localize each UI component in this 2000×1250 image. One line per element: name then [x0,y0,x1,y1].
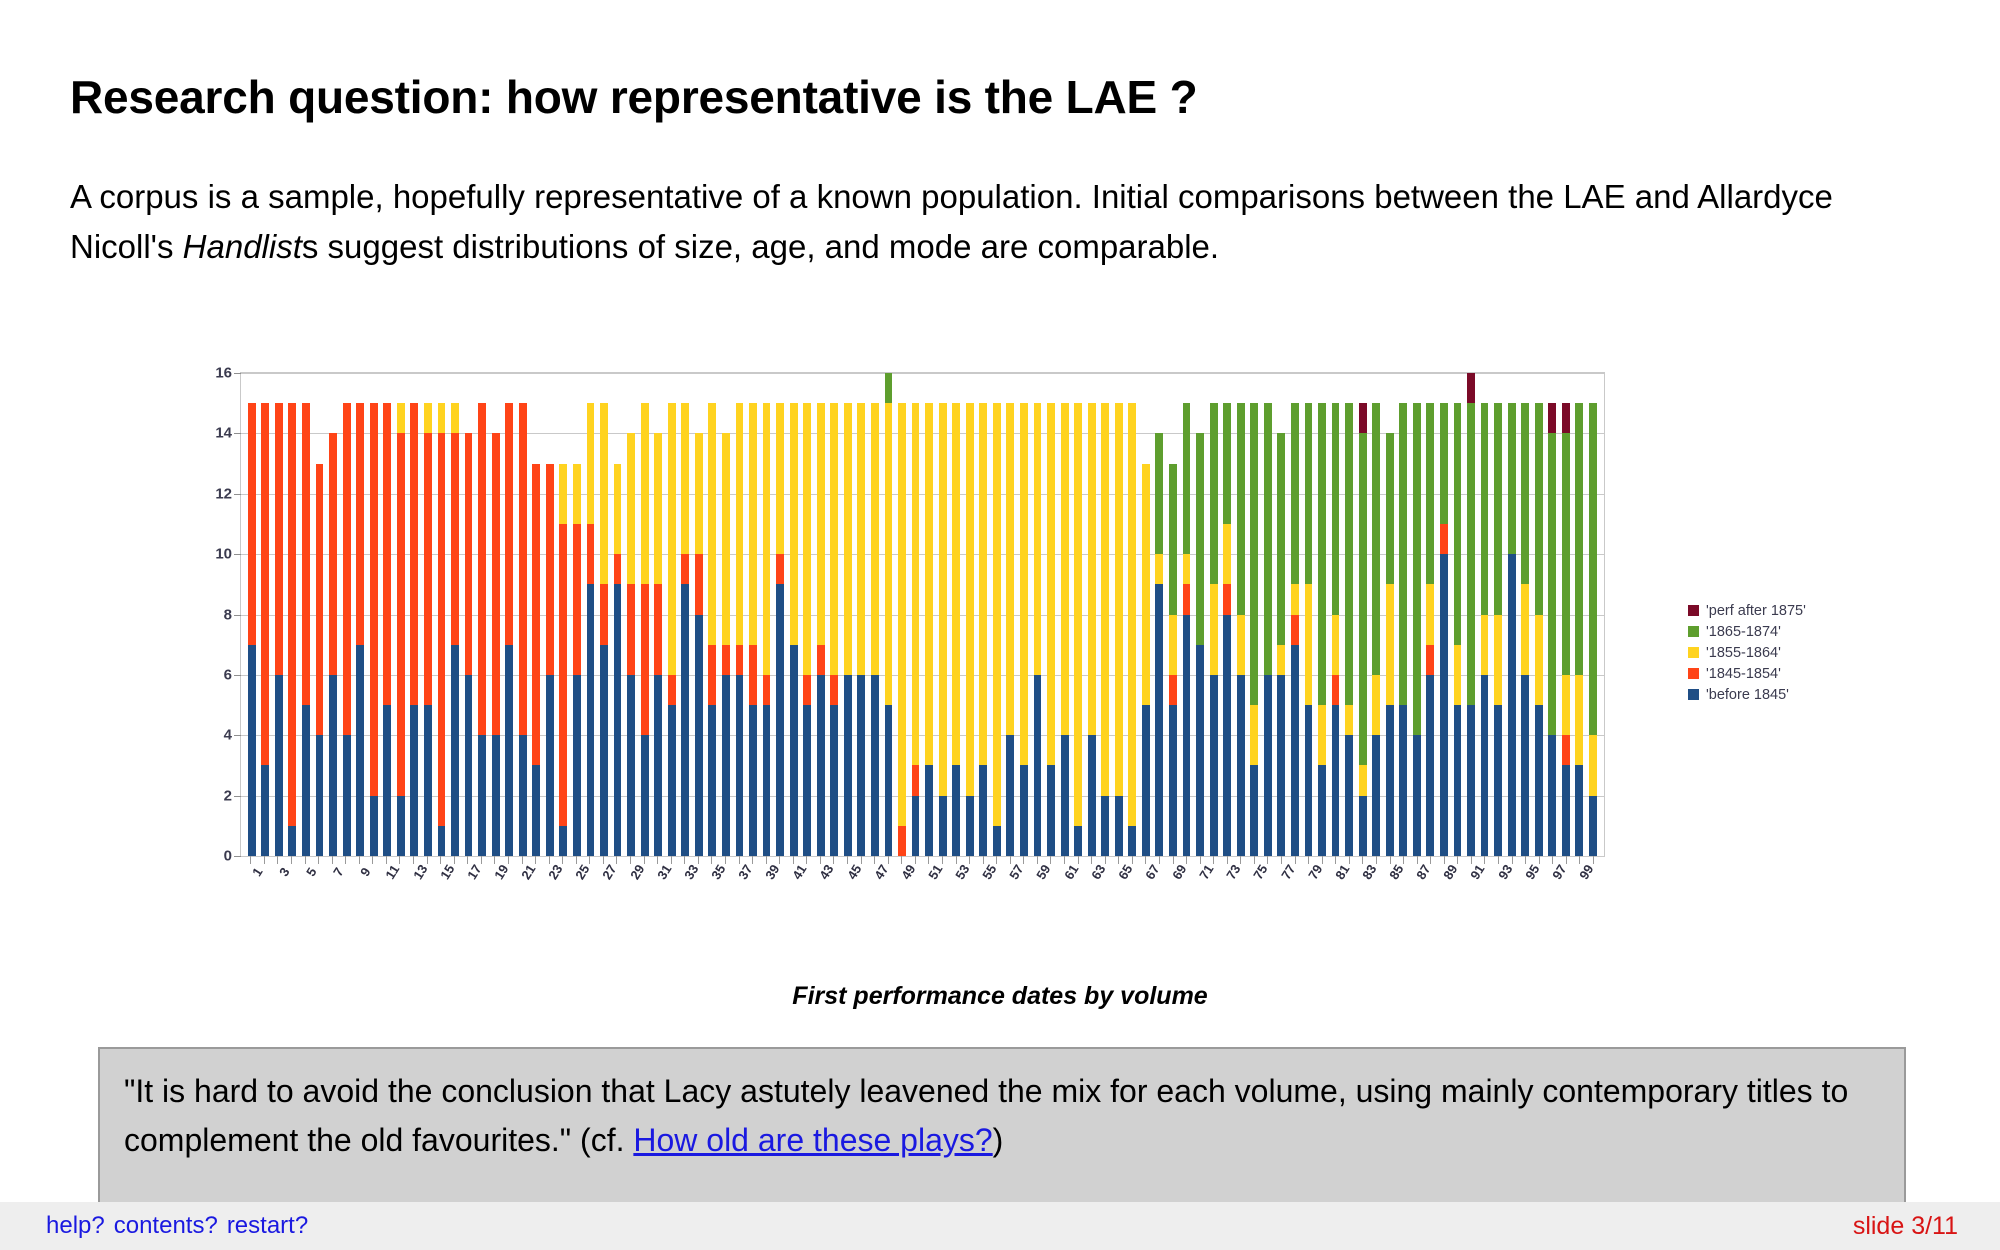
stacked-bar [1291,403,1299,856]
stacked-bar [316,464,324,856]
x-tickmark [773,856,787,864]
bar-segment [316,464,324,736]
bar-segment [871,403,879,675]
bar-column [259,373,273,856]
stacked-bar [898,403,906,856]
bar-column [814,373,828,856]
bar-column [1410,373,1424,856]
x-label-slot: 89 [1438,864,1452,922]
bar-segment [505,645,513,856]
bar-column [1315,373,1329,856]
legend-label: 'perf after 1875' [1706,603,1806,619]
bar-segment [1562,403,1570,433]
bar-segment [1128,403,1136,826]
bar-column [1247,373,1261,856]
bar-column [353,373,367,856]
bar-segment [1345,705,1353,735]
bar-column [1451,373,1465,856]
bar-column [638,373,652,856]
bar-segment [817,645,825,675]
bar-segment [1115,403,1123,795]
x-label-slot: 51 [922,864,936,922]
bar-segment [1183,584,1191,614]
stacked-bar [1047,403,1055,856]
bar-segment [1562,735,1570,765]
x-tickmark [692,856,706,864]
x-tickmark [1505,856,1519,864]
bar-segment [1115,796,1123,856]
stacked-bar [1562,403,1570,856]
x-label-slot: 49 [895,864,909,922]
bar-segment [898,403,906,826]
x-tickmark [664,856,678,864]
stacked-bar [817,403,825,856]
x-label-slot [1234,864,1248,922]
x-tickmark [244,856,258,864]
bar-segment [763,705,771,856]
bar-segment [708,705,716,856]
bar-segment [1223,403,1231,524]
bar-segment [1440,403,1448,524]
bar-segment [857,675,865,856]
bar-segment [1196,433,1204,644]
x-label-slot: 41 [787,864,801,922]
stacked-bar [505,403,513,856]
bar-segment [654,433,662,584]
y-axis-label: 12 [215,485,232,502]
stacked-bar [1006,403,1014,856]
x-label-slot [502,864,516,922]
bar-column [828,373,842,856]
bar-segment [1155,554,1163,584]
bar-segment [668,675,676,705]
stacked-bar [1250,403,1258,856]
x-tickmark [1207,856,1221,864]
bar-segment [993,403,1001,826]
bar-column [1424,373,1438,856]
bar-segment [912,403,920,765]
x-label-slot [1315,864,1329,922]
x-label-slot [610,864,624,922]
x-label-slot [719,864,733,922]
bar-segment [451,645,459,856]
bar-segment [1359,403,1367,433]
x-label-slot: 91 [1465,864,1479,922]
bar-column [380,373,394,856]
y-axis-label: 14 [215,425,232,442]
bar-segment [1088,403,1096,735]
chart-container: 0246810121416 13579111315171921232527293… [190,362,1620,922]
bar-segment [979,403,987,765]
contents-link[interactable]: contents? [114,1212,218,1239]
x-label-slot: 97 [1546,864,1560,922]
x-label-slot [827,864,841,922]
bar-segment [383,403,391,705]
bar-segment [1318,765,1326,856]
bar-segment [627,675,635,856]
bar-segment [736,645,744,675]
bar-segment [1481,615,1489,675]
bar-segment [1291,615,1299,645]
quote-box: "It is hard to avoid the conclusion that… [98,1047,1906,1223]
x-tickmark [909,856,923,864]
bar-segment [1508,403,1516,554]
stacked-bar [1237,403,1245,856]
bar-column [692,373,706,856]
bar-column [1071,373,1085,856]
bar-column [1044,373,1058,856]
bar-segment [1101,796,1109,856]
bar-segment [925,403,933,765]
bar-segment [1061,403,1069,735]
bar-segment [898,826,906,856]
x-label-slot: 23 [542,864,556,922]
stacked-bar [343,403,351,856]
x-label-slot: 7 [325,864,339,922]
bar-column [1153,373,1167,856]
bar-segment [844,675,852,856]
bar-segment [1372,675,1380,735]
stacked-bar [627,433,635,856]
stacked-bar [1088,403,1096,856]
stacked-bar [492,433,500,856]
bar-column [245,373,259,856]
bar-column [1532,373,1546,856]
stacked-bar [424,403,432,856]
y-tickmark [234,494,241,495]
bar-segment [383,705,391,856]
bar-segment [749,403,757,645]
bar-segment [1155,584,1163,856]
bar-segment [1277,675,1285,856]
bar-segment [776,584,784,856]
stacked-bar [532,464,540,856]
bar-segment [356,645,364,856]
x-label-slot [1288,864,1302,922]
bar-segment [722,433,730,644]
stacked-bar [1128,403,1136,856]
x-label-slot: 13 [407,864,421,922]
legend-swatch-icon [1688,626,1699,637]
bar-segment [1481,403,1489,614]
legend-swatch-icon [1688,605,1699,616]
stacked-bar [587,403,595,856]
bar-segment [1372,735,1380,856]
bar-column [1383,373,1397,856]
bar-segment [1318,403,1326,705]
x-label-slot [393,864,407,922]
legend-label: 'before 1845' [1706,687,1789,703]
bar-segment [1332,403,1340,614]
bar-segment [532,464,540,766]
y-axis-label: 16 [215,365,232,382]
bar-column [1505,373,1519,856]
x-tickmark [556,856,570,864]
x-label-slot [1370,864,1384,922]
bar-column [882,373,896,856]
bar-column [963,373,977,856]
y-axis-label: 10 [215,546,232,563]
bar-column [949,373,963,856]
stacked-bar [722,433,730,856]
bar-segment [1250,403,1258,705]
bar-segment [1250,765,1258,856]
stacked-bar [654,433,662,856]
stacked-bar [844,403,852,856]
x-label-slot: 87 [1410,864,1424,922]
bar-segment [857,403,865,675]
bar-segment [397,796,405,856]
stacked-bar [885,373,893,856]
bar-segment [1128,826,1136,856]
bar-segment [424,403,432,433]
stacked-bar [383,403,391,856]
bar-column [597,373,611,856]
y-tickmark [234,373,241,374]
stacked-bar [1034,403,1042,856]
stacked-bar [1426,403,1434,856]
bar-segment [939,403,947,795]
bar-segment [668,705,676,856]
bar-segment [641,403,649,584]
bar-segment [1562,433,1570,675]
bar-segment [248,403,256,645]
bar-segment [681,403,689,554]
bar-segment [803,675,811,705]
bar-segment [1589,403,1597,735]
stacked-bar [248,403,256,856]
x-tickmark [1451,856,1465,864]
bar-segment [1237,615,1245,675]
bar-segment [532,765,540,856]
x-label-slot [556,864,570,922]
how-old-are-these-plays-link[interactable]: How old are these plays? [633,1122,992,1158]
bar-segment [952,403,960,765]
bar-segment [1006,403,1014,735]
bar-column [1586,373,1600,856]
stacked-bar [1494,403,1502,856]
help-link[interactable]: help? [46,1212,105,1239]
bar-segment [979,765,987,856]
bar-column [1098,373,1112,856]
bar-segment [1454,403,1462,645]
stacked-bar [966,403,974,856]
restart-link[interactable]: restart? [227,1212,308,1239]
bar-segment [708,403,716,645]
bar-segment [1183,403,1191,554]
x-label-slot: 75 [1248,864,1262,922]
x-label-slot [1126,864,1140,922]
bar-segment [1494,615,1502,706]
x-tickmark [610,856,624,864]
x-label-slot [664,864,678,922]
slide-canvas: Research question: how representative is… [0,0,2000,1250]
bar-segment [1372,403,1380,675]
bar-column [1017,373,1031,856]
bar-column [868,373,882,856]
stacked-bar [1508,403,1516,856]
bar-segment [356,403,364,645]
bar-segment [1359,433,1367,765]
bar-segment [614,464,622,555]
x-tickmark [963,856,977,864]
x-label-slot [1532,864,1546,922]
bar-column [1234,373,1248,856]
x-label-slot [258,864,272,922]
stacked-bar [993,403,1001,856]
bar-segment [288,403,296,826]
footer-nav-links: help?contents?restart? [46,1212,317,1240]
bar-segment [1426,403,1434,584]
bar-segment [817,403,825,645]
bar-column [841,373,855,856]
bar-column [313,373,327,856]
x-label-slot [1207,864,1221,922]
stacked-bar [776,403,784,856]
bar-column [1058,373,1072,856]
bar-column [1275,373,1289,856]
stacked-bar [1318,403,1326,856]
bar-segment [1305,584,1313,705]
bar-column [909,373,923,856]
x-tickmark [271,856,285,864]
bar-segment [600,403,608,584]
bar-segment [776,554,784,584]
stacked-bar [1575,403,1583,856]
x-tickmark [1397,856,1411,864]
bar-segment [559,826,567,856]
bar-segment [424,433,432,705]
stacked-bar [1440,403,1448,856]
x-label-slot [1261,864,1275,922]
bar-segment [681,554,689,584]
bar-column [990,373,1004,856]
x-tickmark [1180,856,1194,864]
bar-segment [1332,615,1340,675]
bar-segment [790,403,798,645]
x-label-slot: 71 [1193,864,1207,922]
chart-legend: 'perf after 1875''1865-1874''1855-1864''… [1688,600,1806,705]
bar-segment [1142,464,1150,706]
bar-segment [654,675,662,856]
x-label-slot: 43 [814,864,828,922]
bar-segment [1467,373,1475,403]
bar-segment [1196,645,1204,856]
bar-segment [803,403,811,675]
x-tickmark [529,856,543,864]
bar-column [1342,373,1356,856]
x-tickmark [1261,856,1275,864]
legend-item: '1855-1864' [1688,642,1806,663]
bar-column [706,373,720,856]
bar-segment [261,403,269,765]
y-axis-label: 2 [224,787,232,804]
bar-segment [1305,403,1313,584]
stacked-bar [1155,433,1163,856]
stacked-bar [329,433,337,856]
bar-segment [1142,705,1150,856]
bar-segment [1521,403,1529,584]
bar-segment [587,403,595,524]
stacked-bar [952,403,960,856]
bar-segment [573,675,581,856]
bar-segment [1535,705,1543,856]
x-tickmark [1560,856,1574,864]
stacked-bar [1061,403,1069,856]
bar-segment [1345,735,1353,856]
bar-column [1139,373,1153,856]
bar-segment [492,735,500,856]
stacked-bar [1183,403,1191,856]
stacked-bar [1535,403,1543,856]
bar-segment [1047,403,1055,765]
x-tickmark [475,856,489,864]
x-tickmark [800,856,814,864]
bar-column [570,373,584,856]
x-label-slot [854,864,868,922]
bar-segment [1169,615,1177,675]
x-label-slot [936,864,950,922]
bar-segment [1413,735,1421,856]
x-label-slot: 9 [353,864,367,922]
bar-segment [1074,826,1082,856]
bar-segment [1508,554,1516,856]
bar-column [475,373,489,856]
bar-segment [329,433,337,675]
bar-segment [275,403,283,675]
bar-segment [1399,403,1407,705]
legend-item: '1865-1874' [1688,621,1806,642]
bar-segment [885,403,893,705]
chart-caption: First performance dates by volume [0,982,2000,1011]
bar-column [936,373,950,856]
x-tickmark [881,856,895,864]
x-tickmark [827,856,841,864]
bar-segment [397,403,405,433]
stacked-bar [370,403,378,856]
x-tickmark [746,856,760,864]
bar-segment [1074,403,1082,826]
stacked-bar [912,403,920,856]
x-label-slot: 3 [271,864,285,922]
bar-column [1559,373,1573,856]
stacked-bar [681,403,689,856]
bar-segment [1467,403,1475,705]
x-tickmark [420,856,434,864]
bar-column [1031,373,1045,856]
stacked-bar [668,403,676,856]
bar-segment [627,584,635,675]
x-label-slot [773,864,787,922]
bar-segment [1006,735,1014,856]
bar-segment [641,584,649,735]
bar-segment [1020,765,1028,856]
chart-plot-area: 0246810121416 [240,372,1605,857]
x-label-slot [339,864,353,922]
bar-segment [1521,675,1529,856]
bar-segment [1250,705,1258,765]
x-label-slot: 99 [1573,864,1587,922]
x-label-slot [1044,864,1058,922]
x-label-slot [1071,864,1085,922]
bar-segment [1575,403,1583,675]
legend-swatch-icon [1688,647,1699,658]
bar-segment [790,645,798,856]
bar-segment [559,524,567,826]
bar-segment [370,796,378,856]
bar-segment [1318,705,1326,765]
bar-segment [600,645,608,856]
